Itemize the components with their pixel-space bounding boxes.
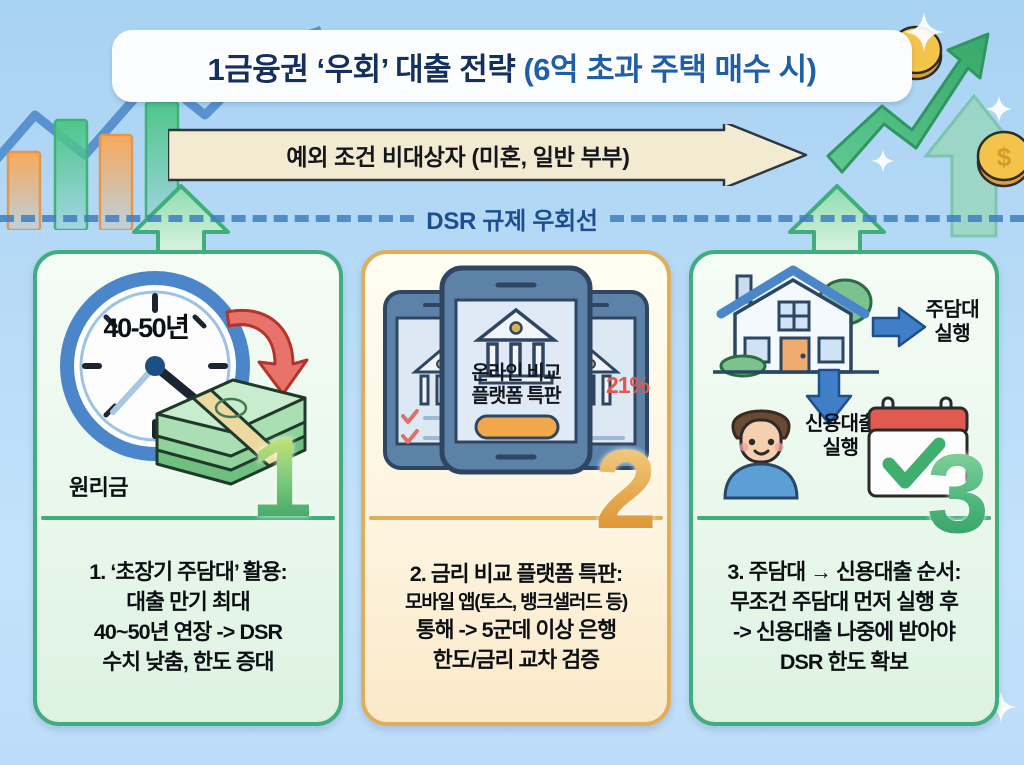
platform-headline: 온라인 비교 플랫폼 특판 [426,362,606,408]
principal-interest-label: 원리금 [69,470,128,502]
caption-line: 수치 낮춤, 한도 증대 [102,649,273,677]
subtitle-banner: 예외 조건 비대상자 (미혼, 일반 부부) [168,124,808,186]
divider-dash-left [0,215,414,222]
platform-headline-line2: 플랫폼 특판 [426,385,606,408]
card-number-3: 3 [927,438,985,550]
sparkle-icon [984,94,1014,124]
person-icon [711,394,811,500]
divider-dash-right [610,215,1024,222]
cta-button-icon [476,416,558,438]
caption-line: 2. 금리 비교 플랫폼 특판: [410,561,623,589]
card-3-illustration: 주담대실행 신용대출실행 [693,254,995,516]
clock-duration-label: 40-50년 [61,306,231,345]
caption-line: DSR 한도 확보 [780,649,908,677]
divider-label: DSR 규제 우회선 [414,201,609,236]
caption-line: 40~50년 연장 -> DSR [94,619,282,647]
card-step-1[interactable]: 40-50년 원리금 1 [33,250,343,726]
platform-headline-line1: 온라인 비교 [426,362,606,385]
house-icon [707,262,887,392]
caption-line: -> 신용대출 나중에 받아야 [733,619,955,647]
mortgage-exec-label: 주담대실행 [926,298,979,346]
card-1-caption: 1. ‘초장기 주담대’ 활용: 대출 만기 최대 40~50년 연장 -> D… [37,520,339,722]
coin-icon: $ [972,122,1024,192]
svg-text:$: $ [997,142,1012,172]
sparkle-icon [870,148,896,174]
card-2-illustration: 21% [365,254,667,516]
page-title-paren: (6억 초과 주택 매수 시) [523,52,816,87]
card-row: 40-50년 원리금 1 [0,250,1024,720]
card-1-illustration: 40-50년 원리금 1 [37,254,339,516]
infographic-root: $ DSR 규제 우회선 [0,0,1024,765]
caption-line: 무조건 주담대 먼저 실행 후 [730,589,958,617]
dsr-divider: DSR 규제 우회선 [0,198,1024,238]
blue-right-arrow-icon [869,304,929,350]
card-number-2: 2 [595,434,653,546]
page-title: 1금융권 ‘우회’ 대출 전략 (6억 초과 주택 매수 시) [208,44,817,89]
card-step-2[interactable]: 21% [361,250,671,726]
subtitle-text: 예외 조건 비대상자 (미혼, 일반 부부) [168,124,748,186]
title-banner: 1금융권 ‘우회’ 대출 전략 (6억 초과 주택 매수 시) [112,30,912,102]
caption-line: 한도/금리 교차 검증 [433,647,599,675]
caption-line: 1. ‘초장기 주담대’ 활용: [89,559,287,587]
card-number-1: 1 [251,422,309,534]
caption-line: 3. 주담대 → 신용대출 순서: [727,559,960,587]
page-title-main: 1금융권 ‘우회’ 대출 전략 [208,52,516,87]
caption-line: 대출 만기 최대 [126,589,249,617]
rate-badge: 21% [606,372,649,399]
caption-line: 통해 -> 5군데 이상 은행 [416,617,616,645]
caption-line: 모바일 앱(토스, 뱅크샐러드 등) [405,591,627,616]
card-step-3[interactable]: 주담대실행 신용대출실행 [689,250,999,726]
